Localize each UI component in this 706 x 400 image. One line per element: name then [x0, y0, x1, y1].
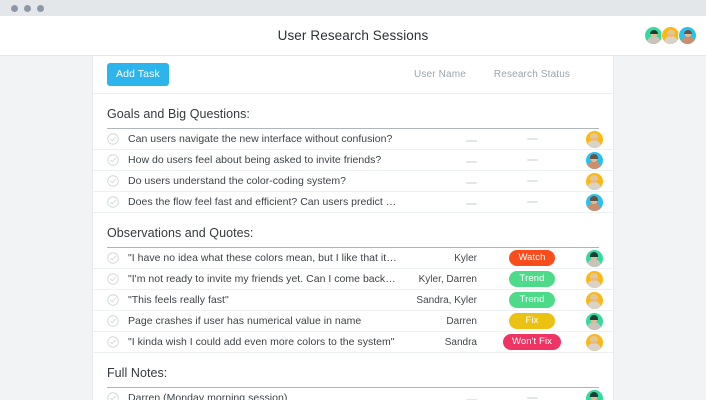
row-assignee-avatar[interactable]: [585, 193, 604, 212]
page-title: User Research Sessions: [0, 28, 706, 43]
table-row[interactable]: Do users understand the color-coding sys…: [93, 171, 613, 192]
window-maximize-button[interactable]: [37, 5, 44, 12]
cell-user-name[interactable]: Sandra: [397, 337, 483, 348]
row-label: "I'm not ready to invite my friends yet.…: [128, 273, 397, 285]
status-badge[interactable]: Trend: [509, 271, 555, 287]
task-complete-check-icon[interactable]: [107, 133, 119, 145]
table-row[interactable]: Page crashes if user has numerical value…: [93, 311, 613, 332]
cell-user-name[interactable]: [397, 176, 483, 187]
task-complete-check-icon[interactable]: [107, 336, 119, 348]
row-label: "I have no idea what these colors mean, …: [128, 252, 397, 264]
research-status-empty-placeholder: [527, 201, 538, 203]
row-assignee-avatar[interactable]: [585, 249, 604, 268]
row-label: "This feels really fast": [128, 294, 397, 306]
cell-assignee: [575, 151, 613, 170]
cell-assignee: [575, 333, 613, 352]
app-header: User Research Sessions: [0, 16, 706, 56]
row-assignee-avatar[interactable]: [585, 312, 604, 331]
sections-container: Goals and Big Questions:Can users naviga…: [93, 94, 613, 400]
header-avatar-group: [640, 16, 697, 55]
table-row[interactable]: "This feels really fast"Sandra, KylerTre…: [93, 290, 613, 311]
cell-user-name[interactable]: [397, 393, 483, 400]
cell-assignee: [575, 249, 613, 268]
row-assignee-avatar[interactable]: [585, 291, 604, 310]
avatar-hair: [590, 154, 598, 158]
table-row[interactable]: How do users feel about being asked to i…: [93, 150, 613, 171]
row-label: How do users feel about being asked to i…: [128, 154, 397, 166]
row-assignee-avatar[interactable]: [585, 172, 604, 191]
content-card: Add Task User Name Research Status Goals…: [93, 56, 613, 400]
cell-research-status[interactable]: [489, 159, 575, 161]
task-complete-check-icon[interactable]: [107, 252, 119, 264]
column-header-user-name[interactable]: User Name: [397, 69, 483, 80]
avatar-hair: [590, 252, 598, 256]
cell-assignee: [575, 291, 613, 310]
section-title: Goals and Big Questions:: [93, 94, 613, 128]
section-title: Full Notes:: [93, 353, 613, 387]
status-badge[interactable]: Won't Fix: [503, 334, 561, 350]
cell-research-status[interactable]: [489, 397, 575, 399]
avatar-hair: [650, 30, 658, 34]
toolbar: Add Task User Name Research Status: [93, 56, 613, 94]
research-status-empty-placeholder: [527, 397, 538, 399]
cell-user-name[interactable]: Sandra, Kyler: [397, 295, 483, 306]
row-label: Does the flow feel fast and efficient? C…: [128, 196, 397, 208]
user-name-empty-placeholder: [466, 161, 477, 163]
cell-user-name[interactable]: Darren: [397, 316, 483, 327]
row-assignee-avatar[interactable]: [585, 151, 604, 170]
avatar-hair: [590, 175, 598, 179]
avatar-hair: [590, 294, 598, 298]
cell-assignee: [575, 389, 613, 400]
research-status-empty-placeholder: [527, 180, 538, 182]
avatar-teammate-3[interactable]: [678, 26, 697, 45]
status-badge[interactable]: Watch: [509, 250, 555, 266]
row-assignee-avatar[interactable]: [585, 130, 604, 149]
row-assignee-avatar[interactable]: [585, 389, 604, 400]
cell-user-name[interactable]: [397, 134, 483, 145]
cell-research-status[interactable]: Watch: [489, 250, 575, 266]
table-row[interactable]: Can users navigate the new interface wit…: [93, 129, 613, 150]
cell-research-status[interactable]: Trend: [489, 292, 575, 308]
cell-assignee: [575, 130, 613, 149]
avatar-hair: [590, 273, 598, 277]
window-close-button[interactable]: [11, 5, 18, 12]
cell-research-status[interactable]: [489, 201, 575, 203]
row-label: Do users understand the color-coding sys…: [128, 175, 397, 187]
task-complete-check-icon[interactable]: [107, 315, 119, 327]
cell-research-status[interactable]: [489, 138, 575, 140]
avatar-hair: [590, 196, 598, 200]
cell-user-name[interactable]: [397, 197, 483, 208]
row-assignee-avatar[interactable]: [585, 270, 604, 289]
window-minimize-button[interactable]: [24, 5, 31, 12]
cell-research-status[interactable]: Fix: [489, 313, 575, 329]
avatar-hair: [667, 30, 675, 34]
cell-research-status[interactable]: Trend: [489, 271, 575, 287]
task-complete-check-icon[interactable]: [107, 154, 119, 166]
table-row[interactable]: "I have no idea what these colors mean, …: [93, 248, 613, 269]
row-assignee-avatar[interactable]: [585, 333, 604, 352]
row-label: Darren (Monday morning session): [128, 392, 397, 400]
cell-research-status[interactable]: [489, 180, 575, 182]
task-complete-check-icon[interactable]: [107, 392, 119, 400]
task-complete-check-icon[interactable]: [107, 175, 119, 187]
table-row[interactable]: Does the flow feel fast and efficient? C…: [93, 192, 613, 213]
row-label: Can users navigate the new interface wit…: [128, 133, 397, 145]
cell-user-name[interactable]: Kyler: [397, 253, 483, 264]
cell-assignee: [575, 193, 613, 212]
window-chrome: [0, 0, 706, 16]
avatar-hair: [590, 315, 598, 319]
avatar-hair: [590, 336, 598, 340]
task-complete-check-icon[interactable]: [107, 294, 119, 306]
cell-user-name[interactable]: Kyler, Darren: [397, 274, 483, 285]
page-body: Add Task User Name Research Status Goals…: [0, 56, 706, 400]
cell-assignee: [575, 172, 613, 191]
cell-assignee: [575, 312, 613, 331]
task-complete-check-icon[interactable]: [107, 273, 119, 285]
user-name-empty-placeholder: [466, 203, 477, 205]
row-label: "I kinda wish I could add even more colo…: [128, 336, 397, 348]
table-row[interactable]: Darren (Monday morning session): [93, 388, 613, 400]
table-row[interactable]: "I kinda wish I could add even more colo…: [93, 332, 613, 353]
user-name-empty-placeholder: [466, 140, 477, 142]
research-status-empty-placeholder: [527, 138, 538, 140]
avatar-hair: [590, 392, 598, 396]
cell-user-name[interactable]: [397, 155, 483, 166]
row-label: Page crashes if user has numerical value…: [128, 315, 397, 327]
status-badge[interactable]: Trend: [509, 292, 555, 308]
cell-assignee: [575, 270, 613, 289]
cell-research-status[interactable]: Won't Fix: [489, 334, 575, 350]
add-task-button[interactable]: Add Task: [107, 63, 169, 86]
table-row[interactable]: "I'm not ready to invite my friends yet.…: [93, 269, 613, 290]
status-badge[interactable]: Fix: [509, 313, 555, 329]
avatar-hair: [684, 30, 692, 34]
avatar-hair: [590, 133, 598, 137]
task-complete-check-icon[interactable]: [107, 196, 119, 208]
user-name-empty-placeholder: [466, 182, 477, 184]
section-title: Observations and Quotes:: [93, 213, 613, 247]
research-status-empty-placeholder: [527, 159, 538, 161]
column-header-research-status[interactable]: Research Status: [489, 69, 575, 80]
